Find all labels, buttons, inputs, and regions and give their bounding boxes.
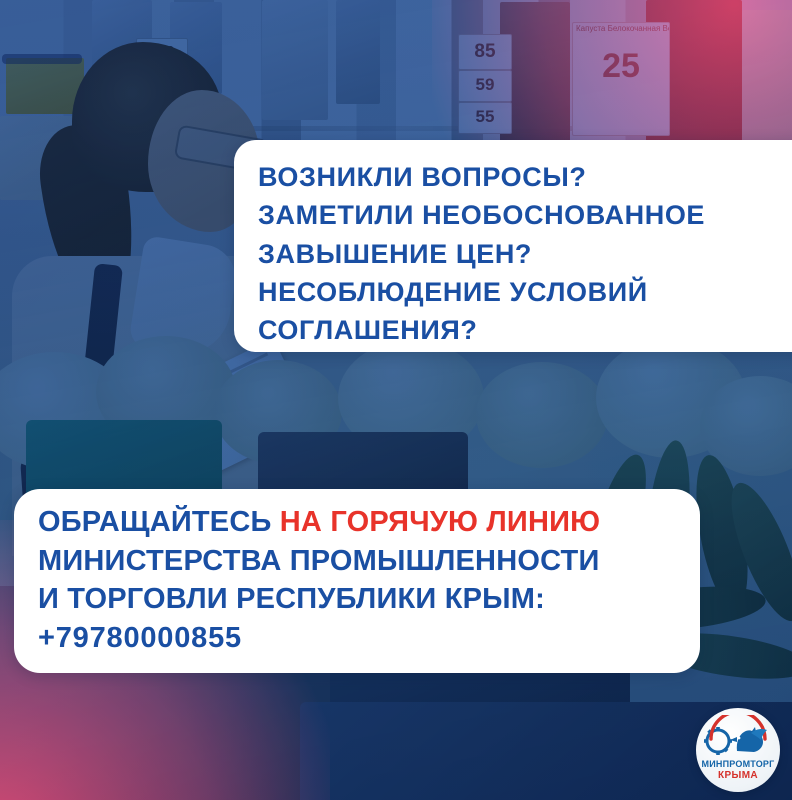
hotline-card: ОБРАЩАЙТЕСЬ НА ГОРЯЧУЮ ЛИНИЮ МИНИСТЕРСТВ… bbox=[14, 489, 700, 673]
questions-line-4: НЕСОБЛЮДЕНИЕ УСЛОВИЙ bbox=[258, 273, 792, 311]
background-photo: 85 59 55 Капуста Белокочанная Вес. Соцце… bbox=[0, 0, 792, 800]
questions-card: ВОЗНИКЛИ ВОПРОСЫ? ЗАМЕТИЛИ НЕОБОСНОВАННО… bbox=[234, 140, 792, 352]
questions-line-1: ВОЗНИКЛИ ВОПРОСЫ? bbox=[258, 158, 792, 196]
logo-line-2: КРЫМА bbox=[718, 771, 758, 781]
griffin-gear-icon bbox=[703, 715, 773, 759]
logo-line-1: МИНПРОМТОРГ bbox=[702, 760, 775, 769]
hotline-line-1-accent: НА ГОРЯЧУЮ ЛИНИЮ bbox=[280, 506, 601, 538]
questions-line-5: СОГЛАШЕНИЯ? bbox=[258, 311, 792, 349]
questions-line-3: ЗАВЫШЕНИЕ ЦЕН? bbox=[258, 235, 792, 273]
hotline-line-2: МИНИСТЕРСТВА ПРОМЫШЛЕННОСТИ bbox=[38, 542, 700, 581]
hotline-line-3: И ТОРГОВЛИ РЕСПУБЛИКИ КРЫМ: bbox=[38, 580, 700, 619]
poster-root: 85 59 55 Капуста Белокочанная Вес. Соцце… bbox=[0, 0, 792, 800]
hotline-line-1-prefix: ОБРАЩАЙТЕСЬ bbox=[38, 506, 280, 538]
hotline-phone-number[interactable]: +79780000855 bbox=[38, 619, 700, 658]
minpromtorg-crimea-logo[interactable]: МИНПРОМТОРГ КРЫМА bbox=[696, 708, 780, 792]
questions-line-2: ЗАМЕТИЛИ НЕОБОСНОВАННОЕ bbox=[258, 196, 792, 234]
hotline-line-1: ОБРАЩАЙТЕСЬ НА ГОРЯЧУЮ ЛИНИЮ bbox=[38, 503, 700, 542]
